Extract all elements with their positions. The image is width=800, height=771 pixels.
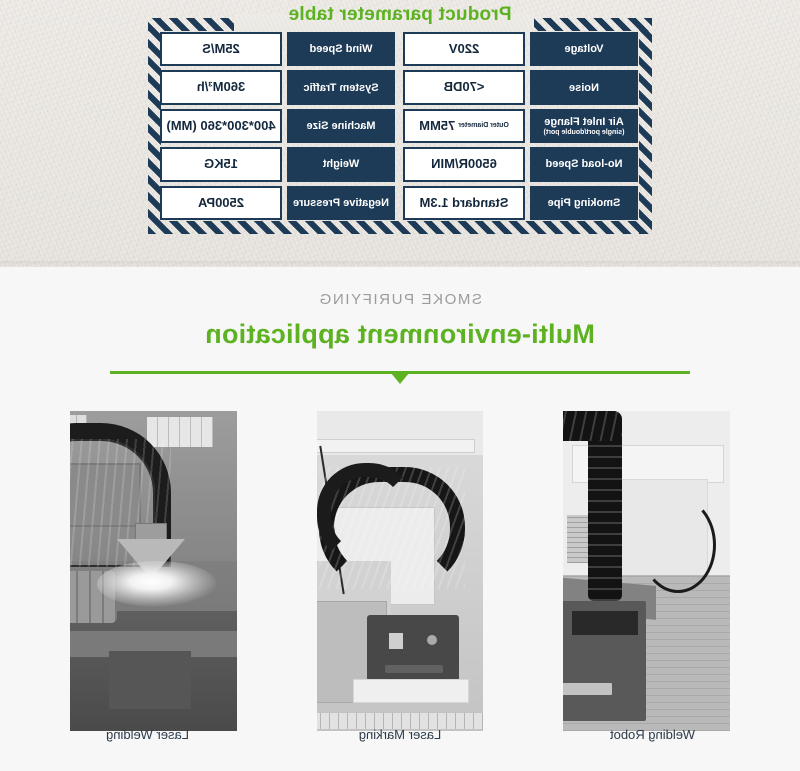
param-value: 400*300*360 (MM) [160, 109, 282, 143]
param-label: Noise [530, 70, 638, 104]
table-row: Smoking Pipe Standard 1.3M Negative Pres… [162, 186, 638, 220]
table-row: Air Inlet Flange (single port/double por… [162, 109, 638, 143]
table-cell-pair-left: No-load Speed 6500R/MIN [403, 147, 638, 181]
param-value: 220V [403, 32, 525, 66]
photo-extraction-arm [588, 415, 622, 601]
param-value: 25M/S [160, 32, 282, 66]
photo-pallet [353, 679, 469, 703]
photo-extraction-arm-second [317, 463, 417, 565]
param-label: Wind Speed [287, 32, 395, 66]
section-eyebrow: SMOKE PURIFYING [0, 291, 800, 308]
table-cell-pair-right: Machine Size 400*300*360 (MM) [160, 109, 395, 143]
table-cell-pair-right: System Traffic 360M³/h [160, 70, 395, 104]
param-label: System Traffic [287, 70, 395, 104]
product-parameter-table: Voltage 220V Wind Speed 25M/S Noise <70D… [162, 32, 638, 220]
photo-cable [640, 497, 716, 593]
param-value: Standard 1.3M [403, 186, 525, 220]
photo-caption: Welding Robot [535, 727, 770, 742]
table-row: Voltage 220V Wind Speed 25M/S [162, 32, 638, 66]
chevron-down-icon [391, 373, 409, 384]
table-cell-pair-right: Negative Pressure 2500PA [160, 186, 395, 220]
param-label: Air Inlet Flange (single port/double por… [530, 109, 638, 143]
welding-robot-photo [563, 411, 730, 731]
laser-marking-photo [317, 411, 484, 731]
divider-rule [110, 371, 690, 374]
param-label: Negative Pressure [287, 186, 395, 220]
photo-extraction-arm-elbow [563, 411, 622, 441]
application-photo-row [30, 395, 770, 715]
param-label: Voltage [530, 32, 638, 66]
param-value: 2500PA [160, 186, 282, 220]
table-cell-pair-right: Wind Speed 25M/S [160, 32, 395, 66]
table-cell-pair-left: Smoking Pipe Standard 1.3M [403, 186, 638, 220]
param-value: 6500R/MIN [403, 147, 525, 181]
param-label: No-load Speed [530, 147, 638, 181]
table-cell-pair-left: Air Inlet Flange (single port/double por… [403, 109, 638, 143]
photo-unit-knob [427, 635, 437, 645]
photo-machine-base [109, 651, 191, 709]
param-value-subtext: Outer Diameter [458, 122, 509, 129]
table-cell-pair-left: Noise <70DB [403, 70, 638, 104]
photo-shelf [317, 439, 476, 453]
param-label: Smoking Pipe [530, 186, 638, 220]
param-value: 15KG [160, 147, 282, 181]
photo-unit-switch [389, 633, 403, 649]
laser-welding-photo [70, 411, 237, 731]
photo-unit-logo [385, 665, 443, 673]
photo-purifier-unit [367, 615, 459, 681]
table-cell-pair-right: Weight 15KG [160, 147, 395, 181]
product-parameter-section: Product parameter table Voltage 220V Win… [0, 0, 800, 267]
frame-stripe-left [639, 18, 652, 234]
photo-caption: Laser Welding [30, 727, 265, 742]
photo-caption: Laser Marking [283, 727, 518, 742]
photo-brand-logo [563, 683, 612, 695]
param-label: Weight [287, 147, 395, 181]
photo-arm-mount [572, 611, 638, 635]
section-headline: Multi-environment application [0, 319, 800, 350]
param-label-subtext: (single port/double port) [544, 129, 625, 136]
table-row: No-load Speed 6500R/MIN Weight 15KG [162, 147, 638, 181]
applications-section: SMOKE PURIFYING Multi-environment applic… [0, 267, 800, 771]
mirrored-page-wrapper: Product parameter table Voltage 220V Win… [0, 0, 800, 771]
table-cell-pair-left: Voltage 220V [403, 32, 638, 66]
application-caption-row: Welding Robot Laser Marking Laser Weldin… [30, 727, 770, 742]
param-label: Machine Size [287, 109, 395, 143]
param-label-text: Air Inlet Flange [544, 116, 623, 128]
param-value: Outer Diameter 75MM [403, 109, 525, 143]
product-parameter-title: Product parameter table [148, 4, 652, 26]
param-value: 360M³/h [160, 70, 282, 104]
param-value: <70DB [403, 70, 525, 104]
param-value-text: 75MM [419, 119, 455, 133]
table-row: Noise <70DB System Traffic 360M³/h [162, 70, 638, 104]
frame-stripe-bottom [148, 221, 652, 234]
photo-weld-spark [97, 561, 217, 607]
